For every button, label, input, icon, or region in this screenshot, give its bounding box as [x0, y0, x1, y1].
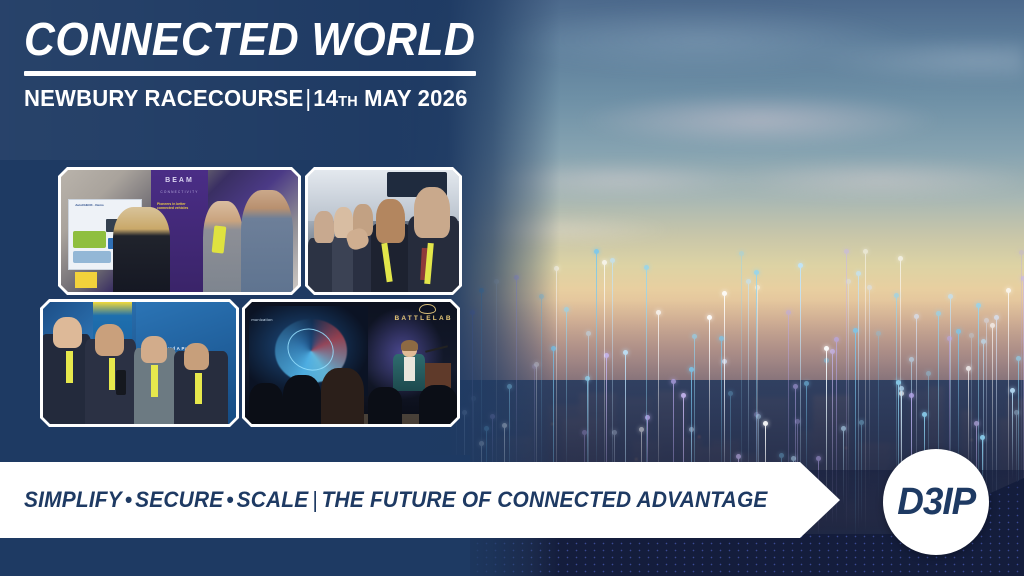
- tagline-text: SIMPLIFY•SECURE•SCALE|THE FUTURE OF CONN…: [24, 487, 768, 513]
- data-beam: [709, 318, 710, 476]
- photo-keynote-battlelab: munication BATTLELAB: [245, 302, 457, 424]
- battlelab-wordmark: BATTLELAB: [394, 315, 452, 322]
- person-blonde-back: [113, 207, 170, 292]
- tagline-pipe-separator: |: [308, 487, 321, 512]
- data-beam: [1012, 391, 1013, 480]
- lanyard: [151, 365, 158, 397]
- bullet-separator: •: [223, 487, 236, 512]
- beam-banner-tagline: Pioneers in better connected vehicles: [157, 202, 202, 212]
- panellist-head: [53, 317, 82, 349]
- page-title: CONNECTED WORLD: [24, 16, 461, 62]
- speaker-shirt: [404, 357, 415, 381]
- banner-top-navy-strip: [0, 455, 470, 463]
- data-beam: [596, 252, 597, 477]
- handheld-microphone: [116, 370, 126, 394]
- event-header: CONNECTED WORLD NEWBURY RACECOURSE|14TH …: [24, 16, 494, 112]
- data-beam: [971, 336, 972, 483]
- tagline-banner: SIMPLIFY•SECURE•SCALE|THE FUTURE OF CONN…: [0, 462, 840, 538]
- data-beam: [612, 261, 613, 493]
- data-beam: [869, 288, 870, 485]
- venue-date-separator: |: [303, 85, 313, 111]
- event-date-day: 14: [313, 85, 338, 111]
- bullet-separator: •: [122, 487, 135, 512]
- attendee-head: [414, 187, 450, 238]
- vehicle-graphic: [73, 231, 106, 248]
- list-item: [305, 167, 462, 295]
- panellist-head: [95, 324, 124, 356]
- data-beam: [724, 294, 725, 470]
- panellist-head: [184, 343, 209, 370]
- tagline-word-scale: SCALE: [237, 487, 309, 512]
- photo-panel-discussion: Sponsored A Panel Rescue Expo: [43, 302, 236, 424]
- battlelab-crest-icon: [419, 304, 436, 314]
- audience-silhouette: [249, 383, 283, 424]
- logo-wordmark: D3IP: [897, 481, 975, 524]
- audience-silhouette: [283, 375, 321, 424]
- event-venue: NEWBURY RACECOURSE: [24, 85, 303, 111]
- audience-silhouette: [419, 385, 457, 424]
- beam-brand-subtext: CONNECTIVITY: [156, 190, 203, 194]
- event-date-month-year: MAY 2026: [364, 85, 467, 111]
- screen-text-fragment: munication: [251, 317, 272, 322]
- list-item: munication BATTLELAB: [242, 299, 460, 427]
- event-banner-graphic: CONNECTED WORLD NEWBURY RACECOURSE|14TH …: [0, 0, 1024, 576]
- speaker-hair: [401, 340, 418, 351]
- event-venue-date: NEWBURY RACECOURSE|14TH MAY 2026: [24, 85, 475, 112]
- tagline-word-simplify: SIMPLIFY: [24, 487, 122, 512]
- tagline-word-secure: SECURE: [135, 487, 223, 512]
- lanyard: [109, 358, 116, 390]
- photo-collage: BEAM CONNECTIVITY Pioneers in better con…: [40, 163, 460, 431]
- tagline-phrase: THE FUTURE OF CONNECTED ADVANTAGE: [322, 487, 768, 512]
- photo-audience-qa: [308, 170, 459, 292]
- yellow-panel-graphic: [75, 272, 96, 288]
- list-item: BEAM CONNECTIVITY Pioneers in better con…: [58, 167, 301, 295]
- audience-silhouette: [321, 368, 363, 424]
- person-visitor: [241, 190, 293, 292]
- vehicle-graphic-secondary: [73, 251, 111, 263]
- lanyard: [195, 373, 202, 405]
- data-beam: [566, 310, 567, 473]
- data-beam: [1021, 253, 1022, 497]
- lanyard: [66, 351, 73, 383]
- attendee-head: [314, 211, 334, 243]
- lanyard: [211, 226, 226, 254]
- event-date-ordinal: TH: [338, 93, 358, 110]
- data-beam: [848, 282, 849, 500]
- demo-screen-label: AutoCHECK - Demo: [75, 203, 104, 207]
- title-underline-rule: [24, 71, 476, 76]
- photo-exhibition-stand: BEAM CONNECTIVITY Pioneers in better con…: [61, 170, 298, 292]
- panellist-head: [141, 336, 166, 363]
- data-beam: [604, 263, 605, 484]
- banner-bottom-navy-strip: [0, 538, 470, 576]
- beam-brand-text: BEAM: [156, 177, 203, 184]
- data-beam: [748, 282, 749, 492]
- d3ip-logo: D3IP: [883, 449, 989, 555]
- audience-silhouette: [368, 387, 402, 424]
- list-item: Sponsored A Panel Rescue Expo: [40, 299, 239, 427]
- attendee-head: [376, 199, 405, 243]
